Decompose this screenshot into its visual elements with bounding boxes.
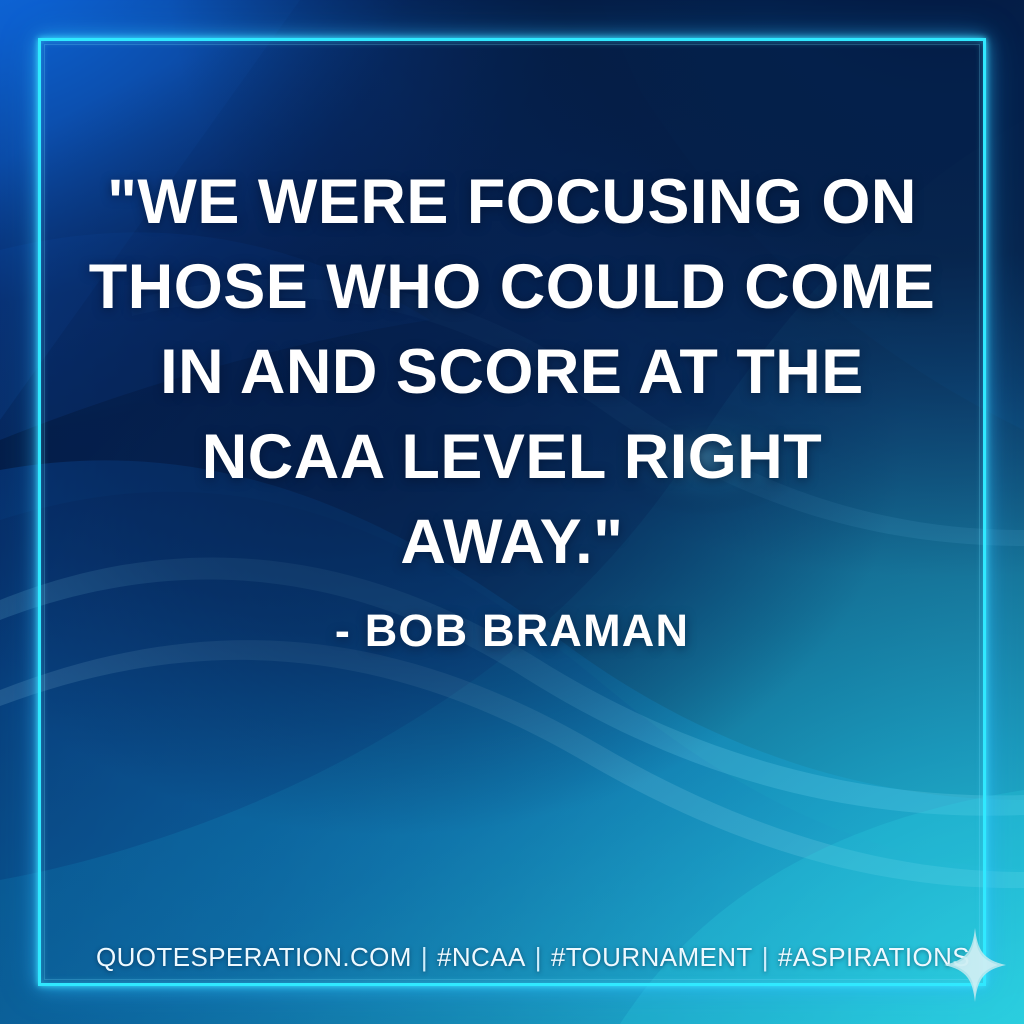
- footer-bar: QUOTESPERATION.COM | #NCAA | #TOURNAMENT…: [96, 942, 970, 973]
- footer-separator-1: |: [421, 942, 428, 973]
- quote-line-4: NCAA LEVEL RIGHT: [60, 415, 964, 500]
- quote-card: "WE WERE FOCUSING ON THOSE WHO COULD COM…: [0, 0, 1024, 1024]
- footer-separator-2: |: [535, 942, 542, 973]
- footer-hashtag-ncaa[interactable]: #NCAA: [437, 942, 526, 973]
- sparkle-star-icon: [944, 928, 1006, 1002]
- footer-separator-3: |: [762, 942, 769, 973]
- footer-hashtag-aspirations[interactable]: #ASPIRATIONS: [778, 942, 970, 973]
- footer-hashtag-tournament[interactable]: #TOURNAMENT: [551, 942, 753, 973]
- quote-line-1: "WE WERE FOCUSING ON: [60, 160, 964, 245]
- quote-line-3: IN AND SCORE AT THE: [60, 330, 964, 415]
- author-attribution: - BOB BRAMAN: [60, 605, 964, 657]
- quote-line-5: AWAY.": [60, 500, 964, 585]
- quote-line-2: THOSE WHO COULD COME: [60, 245, 964, 330]
- footer-website[interactable]: QUOTESPERATION.COM: [96, 942, 412, 973]
- quote-text: "WE WERE FOCUSING ON THOSE WHO COULD COM…: [60, 160, 964, 585]
